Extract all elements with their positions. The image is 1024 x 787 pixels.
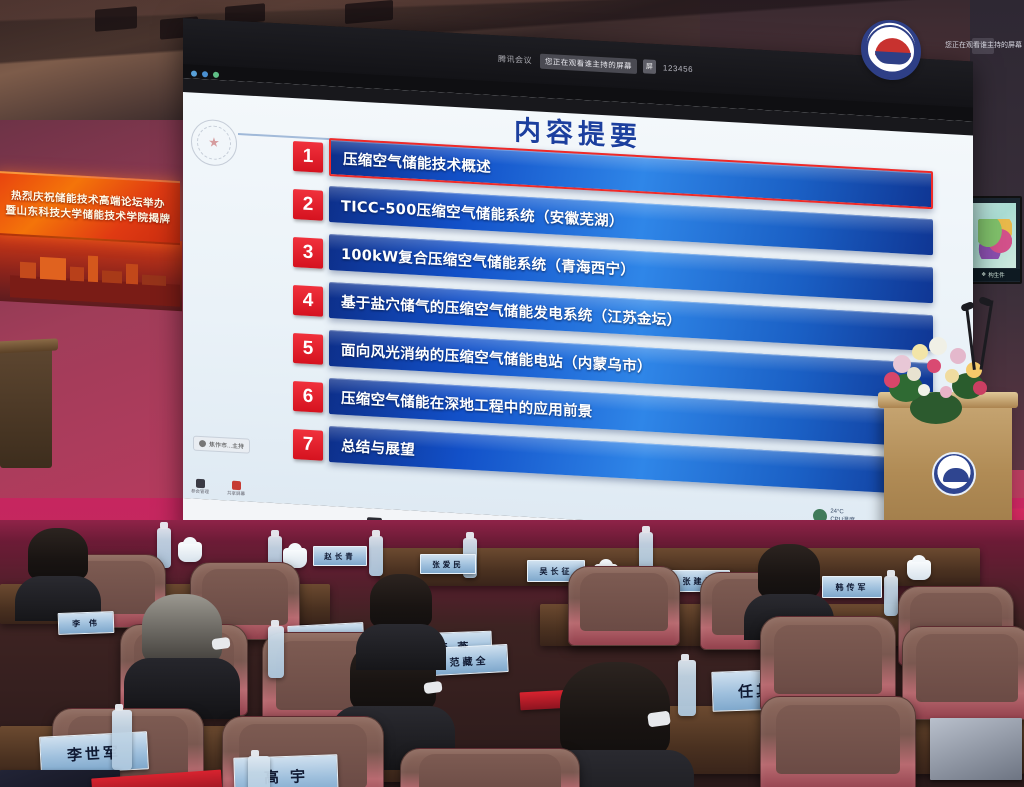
map-thumbnail — [970, 203, 1016, 268]
share-tag: 屏 — [643, 59, 656, 74]
flower-arrangement — [876, 330, 996, 425]
host-chip-label: 焦作市...主持 — [209, 439, 244, 450]
attendee-mid-1 — [142, 594, 222, 664]
right-wall-label: 您正在观看谁主持的屏幕 — [945, 40, 1022, 50]
nameplate-liwei: 李 伟 — [58, 611, 115, 635]
nameplate-zhangqing: 赵长青 — [313, 546, 367, 566]
nameplate-text-6: 高 宇 — [264, 765, 309, 787]
chair-b3 — [568, 566, 680, 646]
projection-screen[interactable]: 腾讯会议 您正在观看谁主持的屏幕 屏 123456 内容提要 1 — [183, 18, 973, 581]
toc-label-2: TICC-500压缩空气储能系统（安徽芜湖） — [329, 194, 624, 231]
toc-number-1: 1 — [293, 141, 323, 173]
chair-f4-cushion — [419, 754, 561, 787]
scene-root: 热烈庆祝储能技术高端论坛举办 暨山东科技大学储能技术学院揭牌 您正在观看谁主持的… — [0, 0, 1024, 787]
toc-number-2: 2 — [293, 189, 323, 221]
attendee-mid-3-body — [356, 624, 445, 670]
tray-item-share[interactable]: 共享屏幕 — [227, 480, 245, 497]
nameplate-text-11: 赵长青 — [324, 551, 356, 562]
chair-f4 — [400, 748, 580, 787]
city-skyline-graphic — [10, 245, 180, 307]
nameplate-text-1: 李 伟 — [72, 617, 100, 629]
attendee-back-1 — [28, 528, 88, 580]
toc-number-5: 5 — [293, 333, 323, 365]
ceiling-light-4 — [345, 0, 393, 24]
control-dot-3[interactable] — [213, 72, 219, 78]
congratulations-banner: 热烈庆祝储能技术高端论坛举办 暨山东科技大学储能技术学院揭牌 — [0, 171, 180, 245]
toc-label-7: 总结与展望 — [329, 434, 415, 460]
toc-number-4: 4 — [293, 285, 323, 317]
participants-icon — [196, 479, 205, 488]
water-bottle-b6 — [884, 576, 898, 616]
control-dot-2[interactable] — [202, 71, 208, 77]
toc-number-7: 7 — [293, 429, 323, 461]
screen-surface: 腾讯会议 您正在观看谁主持的屏幕 屏 123456 内容提要 1 — [183, 18, 973, 581]
ceiling-light-1 — [95, 6, 137, 32]
nameplate-zhangaimin: 张爱民 — [420, 554, 476, 574]
toc-label-6: 压缩空气储能在深地工程中的应用前景 — [329, 386, 593, 422]
nameplate-lishijun: 李世军 — [39, 731, 149, 775]
tea-cup-c1 — [178, 542, 202, 562]
water-bottle-b3 — [369, 536, 383, 576]
nameplate-text-10: 韩传军 — [836, 582, 869, 593]
water-bottle-f2 — [248, 756, 270, 787]
nameplate-text-4: 范藏全 — [449, 651, 489, 668]
face-mask-2 — [423, 681, 442, 694]
meeting-id: 123456 — [663, 63, 693, 74]
left-lectern — [0, 348, 52, 468]
meeting-tray[interactable]: 参会管理 共享屏幕 — [191, 478, 245, 497]
tray-label-0: 参会管理 — [191, 488, 209, 495]
side-panel-caption: ❖ 构生件 — [966, 269, 1020, 281]
chair-f3-cushion — [776, 705, 899, 775]
leaf-icon: ❖ — [981, 272, 986, 278]
host-avatar-icon — [199, 440, 206, 447]
nameplate-text-7: 吴长征 — [540, 566, 573, 577]
tray-item-participants[interactable]: 参会管理 — [191, 478, 209, 495]
toc-label-3: 100kW复合压缩空气储能系统（青海西宁） — [329, 242, 635, 280]
share-icon — [232, 481, 241, 490]
audience-area: 吴长征 张建初 韩传军 张爱民 赵长青 — [0, 520, 1024, 787]
water-bottle-f1 — [112, 710, 132, 770]
tray-label-1: 共享屏幕 — [227, 490, 245, 497]
side-panel-caption-text: 构生件 — [988, 271, 1005, 279]
window-controls[interactable] — [191, 70, 219, 78]
nameplate-text-8: 张爱民 — [432, 559, 464, 570]
podium-emblem — [932, 452, 976, 496]
chair-m4-cushion — [916, 634, 1018, 702]
toc-list: 1 压缩空气储能技术概述 2 TICC-500压缩空气储能系统（安徽芜湖） 3 — [293, 136, 933, 507]
toc-number-3: 3 — [293, 237, 323, 269]
attendee-back-2 — [758, 544, 820, 598]
booklet-2 — [930, 718, 1022, 780]
meeting-status-chip: 您正在观看谁主持的屏幕 — [540, 53, 637, 73]
toc-label-5: 面向风光消纳的压缩空气储能电站（内蒙乌市） — [329, 338, 652, 377]
slide-canvas: 内容提要 1 压缩空气储能技术概述 2 TICC-500压缩空气储能系统（安徽芜… — [183, 78, 973, 541]
toc-number-6: 6 — [293, 381, 323, 413]
water-bottle-m2 — [678, 660, 696, 716]
chair-b3-cushion — [580, 573, 668, 631]
control-dot-1[interactable] — [191, 70, 197, 76]
water-bottle-m1 — [268, 626, 284, 678]
toc-label-4: 基于盐穴储气的压缩空气储能发电系统（江苏金坛） — [329, 290, 681, 330]
toc-label-1: 压缩空气储能技术概述 — [331, 147, 491, 177]
chair-f3 — [760, 696, 916, 787]
attendee-front-1 — [560, 662, 670, 758]
meeting-app-name: 腾讯会议 — [498, 53, 532, 66]
chair-m3-cushion — [774, 625, 881, 695]
nameplate-hanchuanjun: 韩传军 — [822, 576, 882, 598]
host-chip[interactable]: 焦作市...主持 — [193, 436, 250, 454]
chair-m4 — [902, 626, 1024, 720]
attendee-mid-3 — [370, 574, 432, 628]
tea-cup-c5 — [907, 560, 931, 580]
